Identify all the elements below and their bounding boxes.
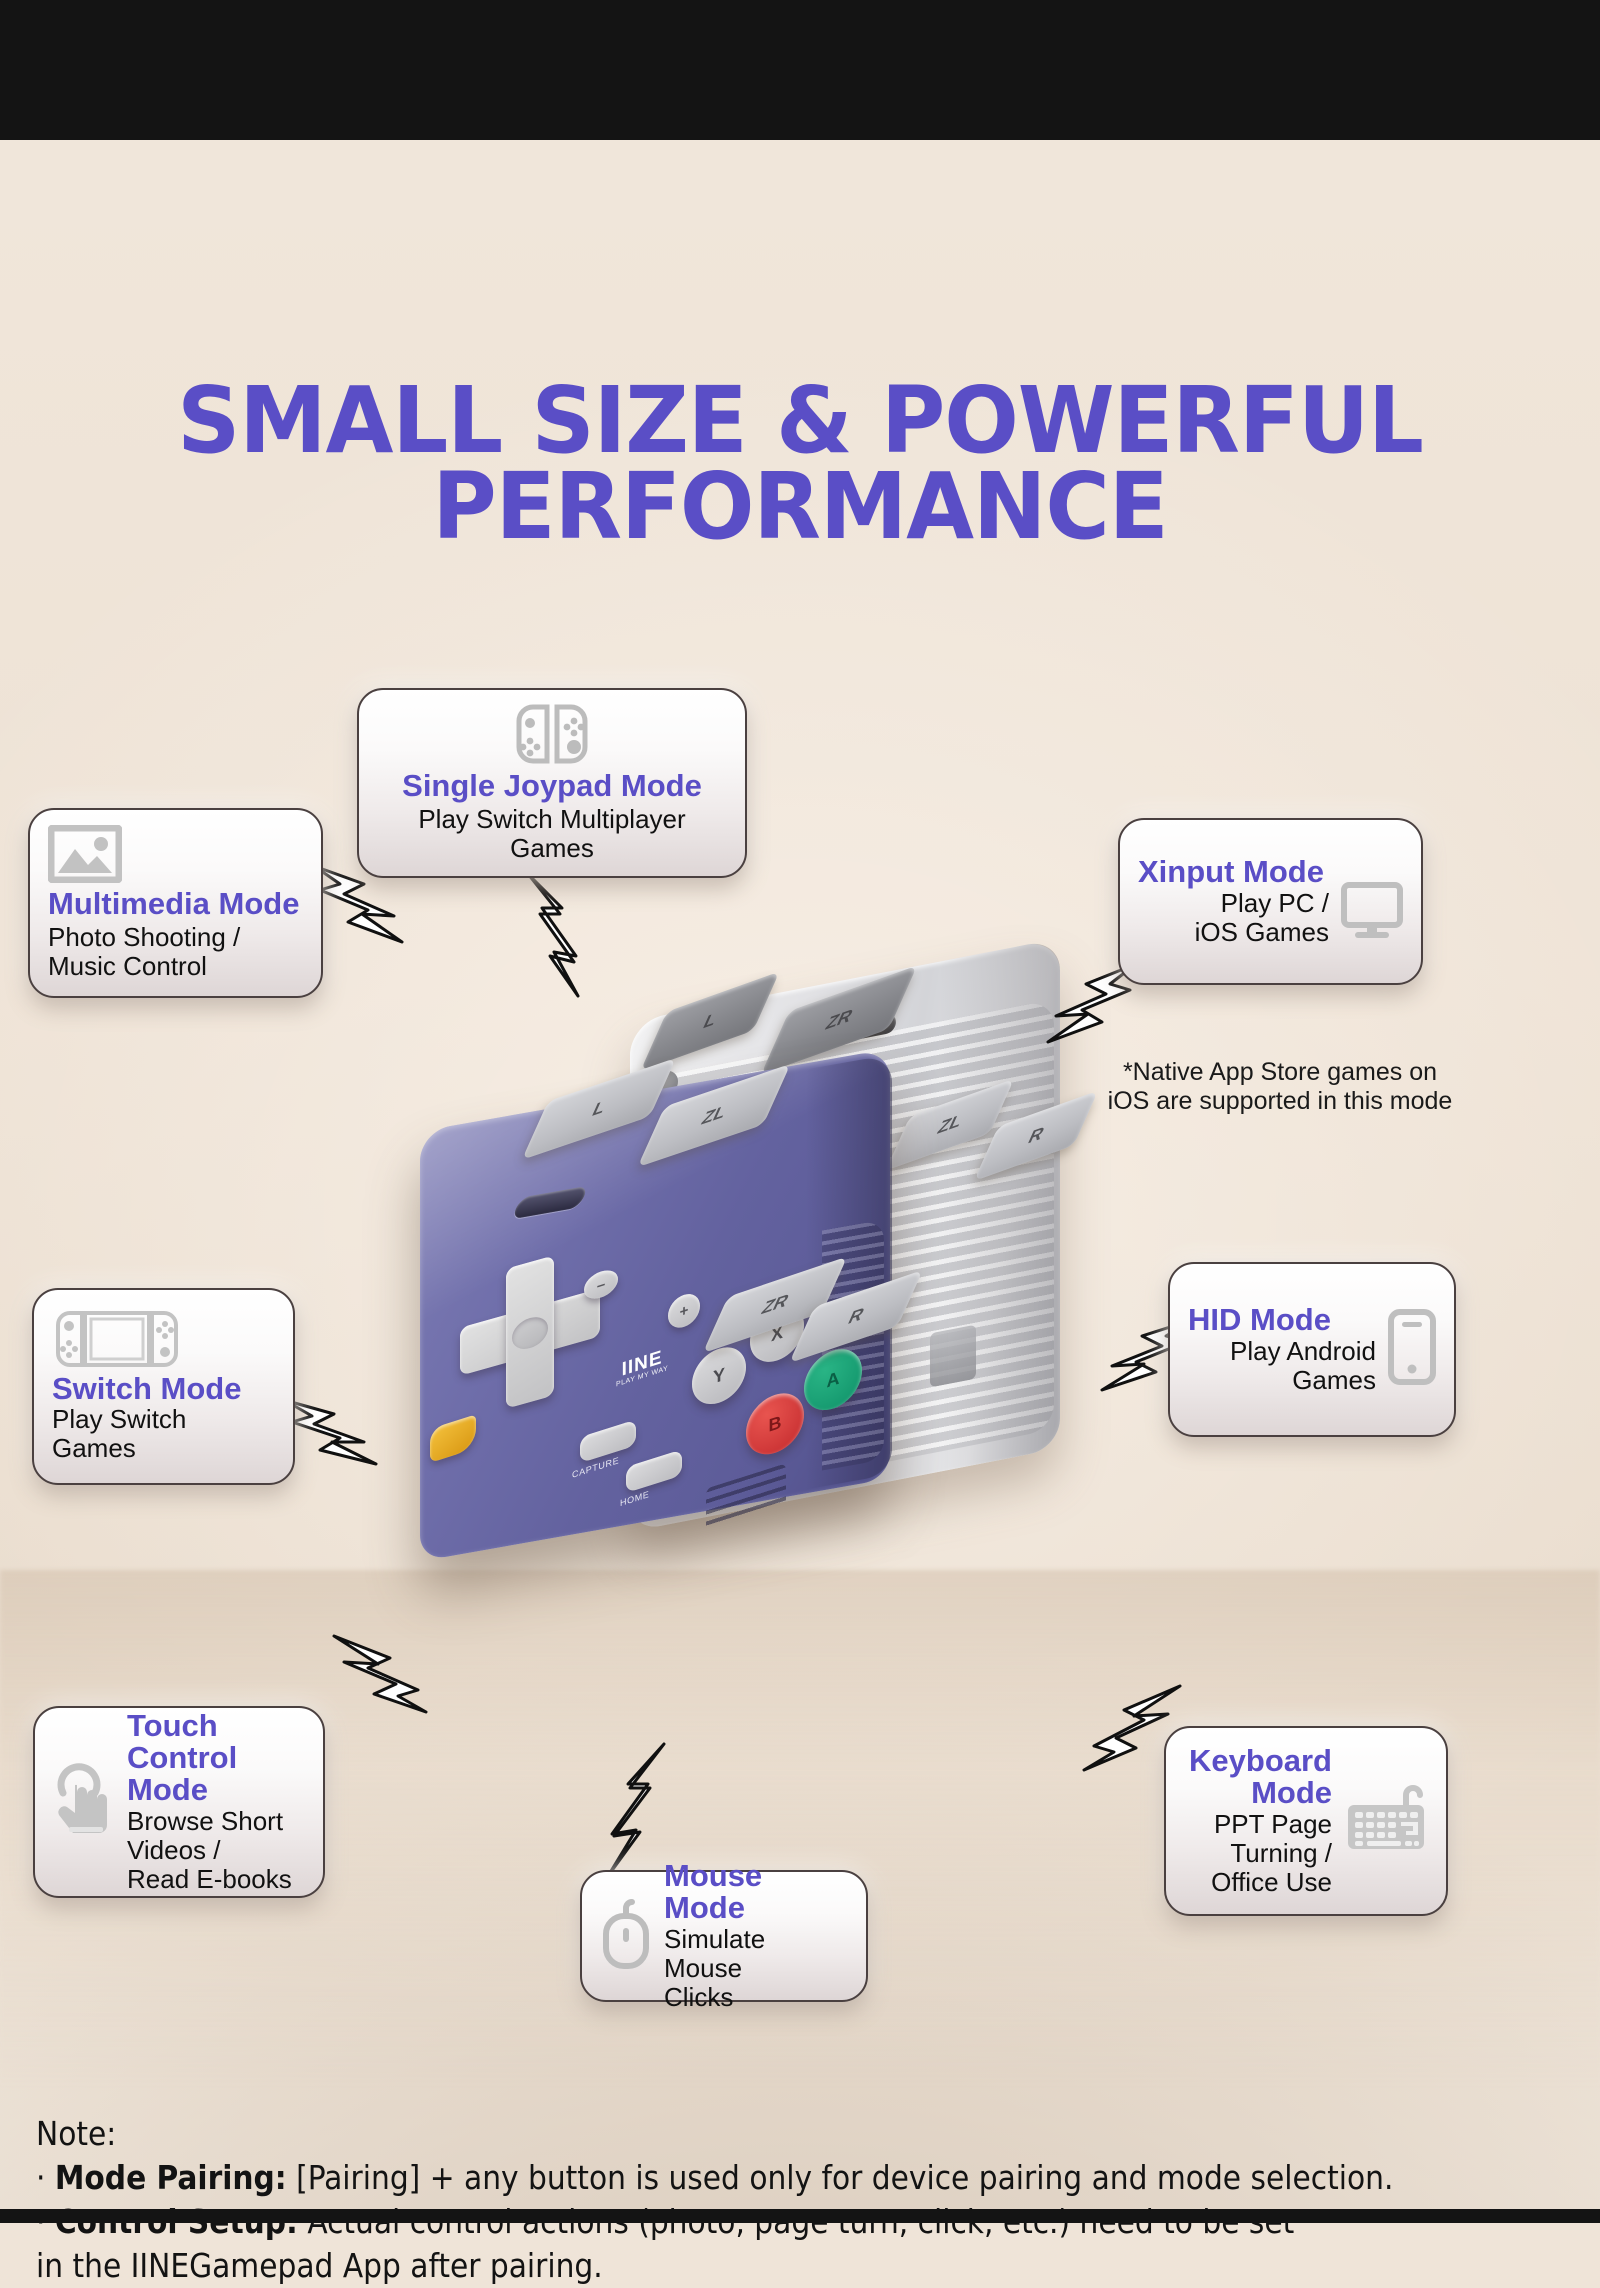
card-touch-title: Touch Control Mode [127,1710,305,1807]
note-item-control-setup-line2: in the IINEGamepad App after pairing. [36,2244,1576,2288]
card-keyboard-sub-line1: PPT Page [1184,1810,1332,1839]
card-hid-mode[interactable]: HID Mode Play Android Games [1168,1262,1456,1437]
note-item-mode-pairing: · Mode Pairing: [Pairing] + any button i… [36,2156,1576,2200]
card-keyboard-title-line2: Mode [1184,1777,1332,1809]
card-xinput-title: Xinput Mode [1138,856,1329,888]
card-joypad-title: Single Joypad Mode [402,770,702,802]
page-title-line2: PERFORMANCE [0,464,1600,550]
card-mouse-sub-line2: Clicks [664,1983,848,2012]
card-keyboard-title-line1: Keyboard [1184,1745,1332,1777]
infographic-stage: SMALL SIZE & POWERFUL PERFORMANCE L ZR Z… [0,140,1600,2209]
connector-bolt-touch [300,1620,430,1720]
card-keyboard-sub-line2: Turning / [1184,1839,1332,1868]
card-touch-control-mode[interactable]: Touch Control Mode Browse Short Videos /… [33,1706,325,1898]
card-switch-title: Switch Mode [52,1373,275,1405]
card-joypad-subtitle: Play Switch Multiplayer Games [377,805,727,863]
card-xinput-mode[interactable]: Xinput Mode Play PC / iOS Games [1118,818,1423,985]
card-hid-subtitle: Play Android Games [1188,1337,1376,1395]
card-touch-subtitle: Browse Short Videos / Read E-books [127,1807,305,1894]
card-keyboard-mode[interactable]: Keyboard Mode PPT Page Turning / Office … [1164,1726,1448,1916]
card-touch-title-line1: Touch [127,1710,305,1742]
note-heading: Note: [36,2112,1576,2156]
card-touch-sub-line2: Videos / [127,1836,305,1865]
note-item1-label: Mode Pairing: [55,2158,287,2197]
gamepad-purple: – + IINE PLAY MY WAY Y X B A CAPTURE HOM… [420,1049,890,1562]
top-black-bar [0,0,1600,140]
monitor-icon [1341,882,1403,945]
connector-bolt-switch [280,1390,390,1470]
card-multimedia-subtitle: Photo Shooting / Music Control [48,923,303,981]
card-keyboard-title: Keyboard Mode [1184,1745,1332,1809]
card-multimedia-sub-line2: Music Control [48,952,303,981]
bottom-black-bar [0,2209,1600,2223]
page-title: SMALL SIZE & POWERFUL PERFORMANCE [0,378,1600,549]
card-touch-title-line2: Control Mode [127,1742,305,1806]
card-keyboard-subtitle: PPT Page Turning / Office Use [1184,1810,1332,1897]
card-hid-title: HID Mode [1188,1304,1376,1336]
card-mouse-sub-line1: Simulate Mouse [664,1925,848,1983]
card-touch-sub-line1: Browse Short [127,1807,305,1836]
card-switch-subtitle: Play Switch Games [52,1405,275,1463]
card-switch-mode[interactable]: Switch Mode Play Switch Games [32,1288,295,1485]
note-item1-text: [Pairing] + any button is used only for … [287,2158,1394,2197]
mouse-icon [600,1898,652,1975]
card-xinput-sub-line2: iOS Games [1138,918,1329,947]
xinput-footnote-line2: iOS are supported in this mode [1040,1087,1520,1116]
card-hid-sub-line1: Play Android [1188,1337,1376,1366]
card-mouse-subtitle: Simulate Mouse Clicks [664,1925,848,2012]
note-item1-bullet: · [36,2158,55,2197]
card-multimedia-sub-line1: Photo Shooting / [48,923,303,952]
joycon-icon [513,703,591,770]
card-hid-sub-line2: Games [1188,1366,1376,1395]
card-single-joypad-mode[interactable]: Single Joypad Mode Play Switch Multiplay… [357,688,747,878]
card-keyboard-sub-line3: Office Use [1184,1868,1332,1897]
card-xinput-sub-line1: Play PC / [1138,889,1329,918]
phone-icon [1388,1309,1436,1390]
card-multimedia-title: Multimedia Mode [48,888,303,920]
switch-console-icon [52,1310,275,1373]
keyboard-icon [1344,1783,1428,1858]
card-mouse-mode[interactable]: Mouse Mode Simulate Mouse Clicks [580,1870,868,2002]
card-xinput-subtitle: Play PC / iOS Games [1138,889,1329,947]
photo-icon [48,825,303,888]
connector-bolt-joypad [520,870,610,1000]
xinput-footnote-line1: *Native App Store games on [1040,1058,1520,1087]
card-touch-sub-line3: Read E-books [127,1865,305,1894]
card-mouse-title: Mouse Mode [664,1860,848,1924]
card-multimedia-mode[interactable]: Multimedia Mode Photo Shooting / Music C… [28,808,323,998]
xinput-footnote: *Native App Store games on iOS are suppo… [1040,1058,1520,1116]
tap-hand-icon [53,1763,115,1842]
note-block: Note: · Mode Pairing: [Pairing] + any bu… [36,2112,1576,2288]
